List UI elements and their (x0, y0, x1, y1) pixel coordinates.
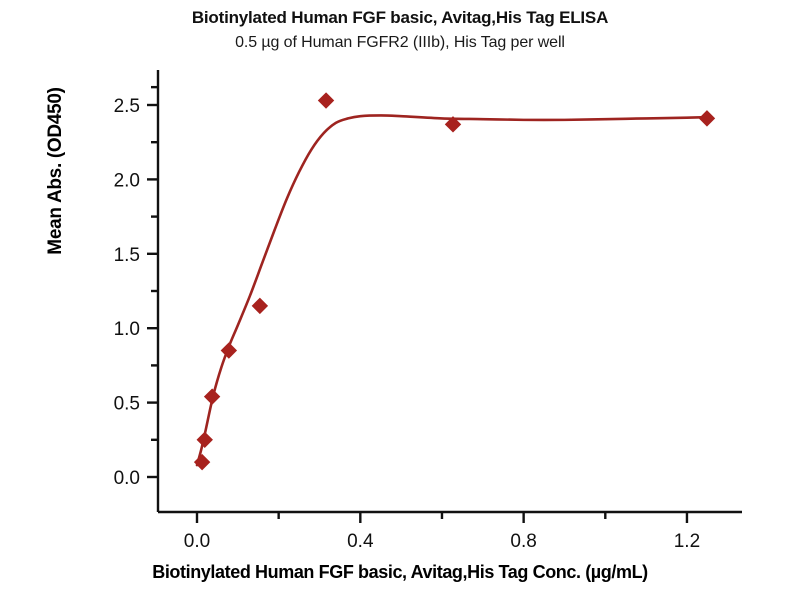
x-axis: 0.00.40.81.2 (158, 512, 742, 552)
data-point-marker (699, 111, 714, 126)
x-tick-label: 0.0 (184, 531, 210, 552)
y-axis: 0.00.51.01.52.02.5 (114, 70, 158, 512)
x-axis-label: Biotinylated Human FGF basic, Avitag,His… (0, 562, 800, 583)
data-point-marker (205, 389, 220, 404)
x-tick-label: 1.2 (674, 531, 700, 552)
data-point-marker (319, 93, 334, 108)
data-point-marker (197, 432, 212, 447)
y-tick-label: 0.5 (114, 394, 140, 415)
data-point-marker (221, 343, 236, 358)
y-tick-label: 0.0 (114, 468, 140, 489)
data-point-marker (252, 298, 267, 313)
fit-curve-path (197, 115, 711, 465)
x-tick-label: 0.4 (347, 531, 374, 552)
x-tick-label: 0.8 (510, 531, 536, 552)
y-tick-label: 1.0 (114, 319, 140, 340)
plot-area: 0.00.51.01.52.02.5 0.00.40.81.2 (0, 0, 800, 600)
chart-figure: Biotinylated Human FGF basic, Avitag,His… (0, 0, 800, 600)
y-tick-label: 2.5 (114, 96, 140, 117)
y-tick-label: 1.5 (114, 245, 140, 266)
y-tick-label: 2.0 (114, 170, 140, 191)
data-point-marker (195, 455, 210, 470)
data-markers (195, 93, 715, 470)
fit-curve (197, 115, 711, 465)
